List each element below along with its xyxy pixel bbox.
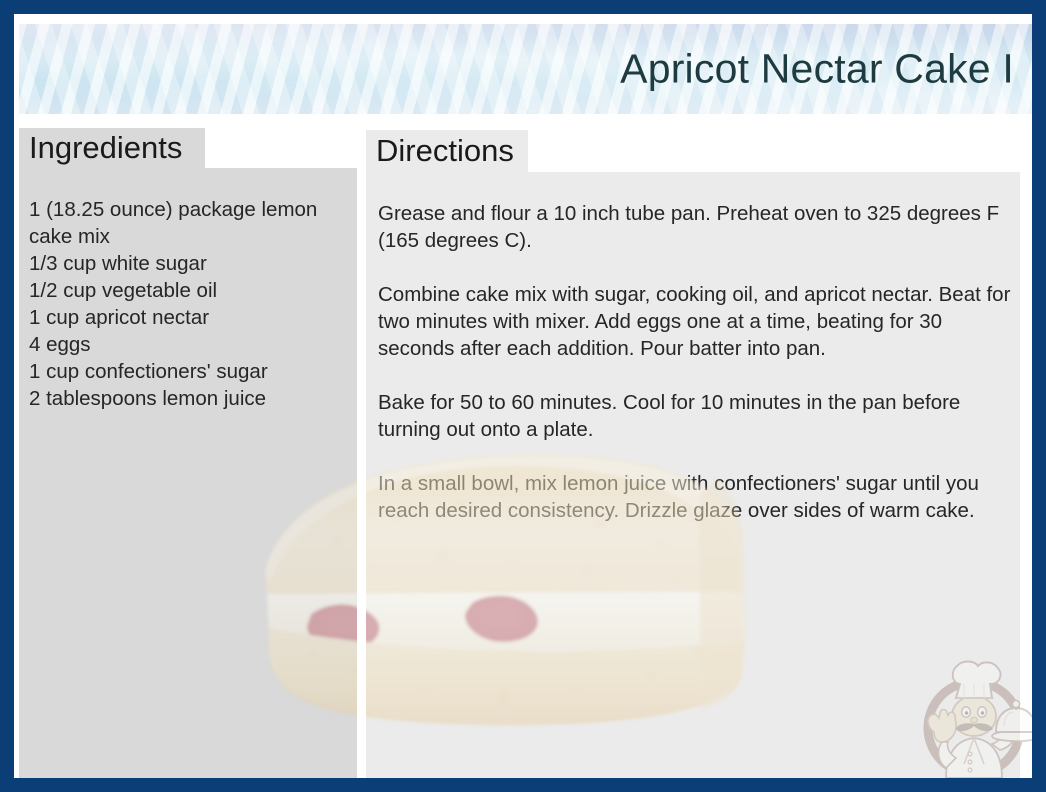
slide-page: Apricot Nectar Cake I Ingredients 1 (18.… [14,14,1032,778]
directions-heading: Directions [376,132,514,170]
page-title: Apricot Nectar Cake I [620,46,1014,91]
ingredient-item: 4 eggs [29,331,347,358]
recipe-slide: Apricot Nectar Cake I Ingredients 1 (18.… [0,0,1046,792]
ingredient-item: 1 cup apricot nectar [29,304,347,331]
ingredient-item: 1 cup confectioners' sugar [29,358,347,385]
ingredients-panel: 1 (18.25 ounce) package lemon cake mix1/… [19,168,357,778]
header-banner: Apricot Nectar Cake I [19,24,1032,114]
directions-panel: Grease and flour a 10 inch tube pan. Pre… [366,172,1020,778]
ingredients-heading: Ingredients [29,130,182,166]
ingredient-item: 1/2 cup vegetable oil [29,277,347,304]
direction-paragraph: Bake for 50 to 60 minutes. Cool for 10 m… [378,389,1014,443]
ingredient-item: 1 (18.25 ounce) package lemon cake mix [29,196,347,250]
ingredients-list: 1 (18.25 ounce) package lemon cake mix1/… [29,196,347,412]
direction-paragraph: Grease and flour a 10 inch tube pan. Pre… [378,200,1014,254]
ingredient-item: 1/3 cup white sugar [29,250,347,277]
direction-paragraph: In a small bowl, mix lemon juice with co… [378,470,1014,524]
panel-divider [357,128,366,778]
ingredient-item: 2 tablespoons lemon juice [29,385,347,412]
direction-paragraph: Combine cake mix with sugar, cooking oil… [378,281,1014,362]
directions-body: Grease and flour a 10 inch tube pan. Pre… [378,200,1014,524]
